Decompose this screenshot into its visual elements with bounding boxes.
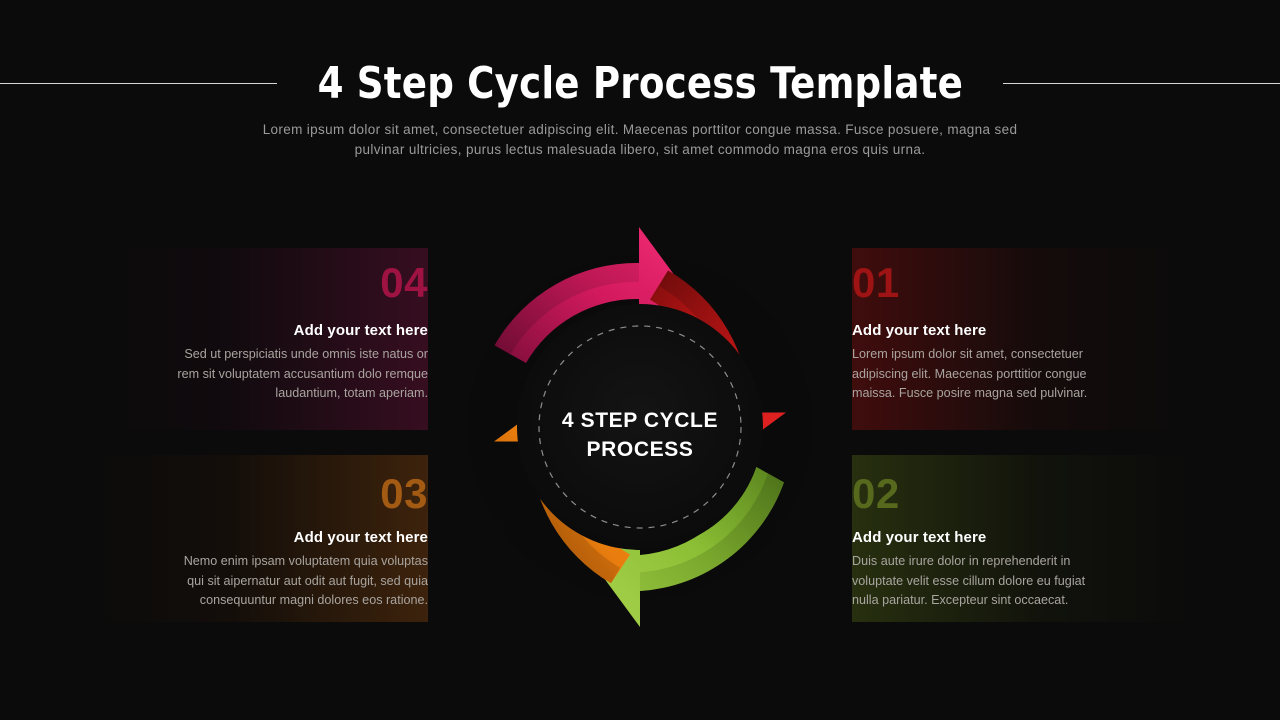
cycle-svg [420, 222, 860, 647]
cycle-hub [517, 304, 763, 550]
step-body-02: Duis aute irure dolor in reprehenderit i… [852, 552, 1110, 611]
step-heading-04: Add your text here [294, 322, 428, 339]
step-body-03: Nemo enim ipsam voluptatem quia voluptas… [170, 552, 428, 611]
page-title: 4 Step Cycle Process Template [317, 58, 962, 109]
step-panel-02[interactable]: 02 Add your text here Duis aute irure do… [852, 455, 1192, 622]
slide-canvas: 4 Step Cycle Process Template Lorem ipsu… [0, 0, 1280, 720]
step-body-01: Lorem ipsum dolor sit amet, consectetuer… [852, 345, 1110, 404]
step-panel-04[interactable]: 04 Add your text here Sed ut perspiciati… [88, 248, 428, 430]
title-row: 4 Step Cycle Process Template [0, 52, 1280, 114]
step-heading-02: Add your text here [852, 529, 986, 546]
title-rule-right [1003, 83, 1280, 84]
step-heading-01: Add your text here [852, 322, 986, 339]
title-rule-left [0, 83, 277, 84]
cycle-diagram: 4 STEP CYCLE PROCESS [420, 222, 860, 647]
slide-subtitle: Lorem ipsum dolor sit amet, consectetuer… [240, 120, 1040, 160]
step-body-04: Sed ut perspiciatis unde omnis iste natu… [170, 345, 428, 404]
step-panel-03[interactable]: 03 Add your text here Nemo enim ipsam vo… [88, 455, 428, 622]
step-panel-01[interactable]: 01 Add your text here Lorem ipsum dolor … [852, 248, 1192, 430]
step-heading-03: Add your text here [294, 529, 428, 546]
